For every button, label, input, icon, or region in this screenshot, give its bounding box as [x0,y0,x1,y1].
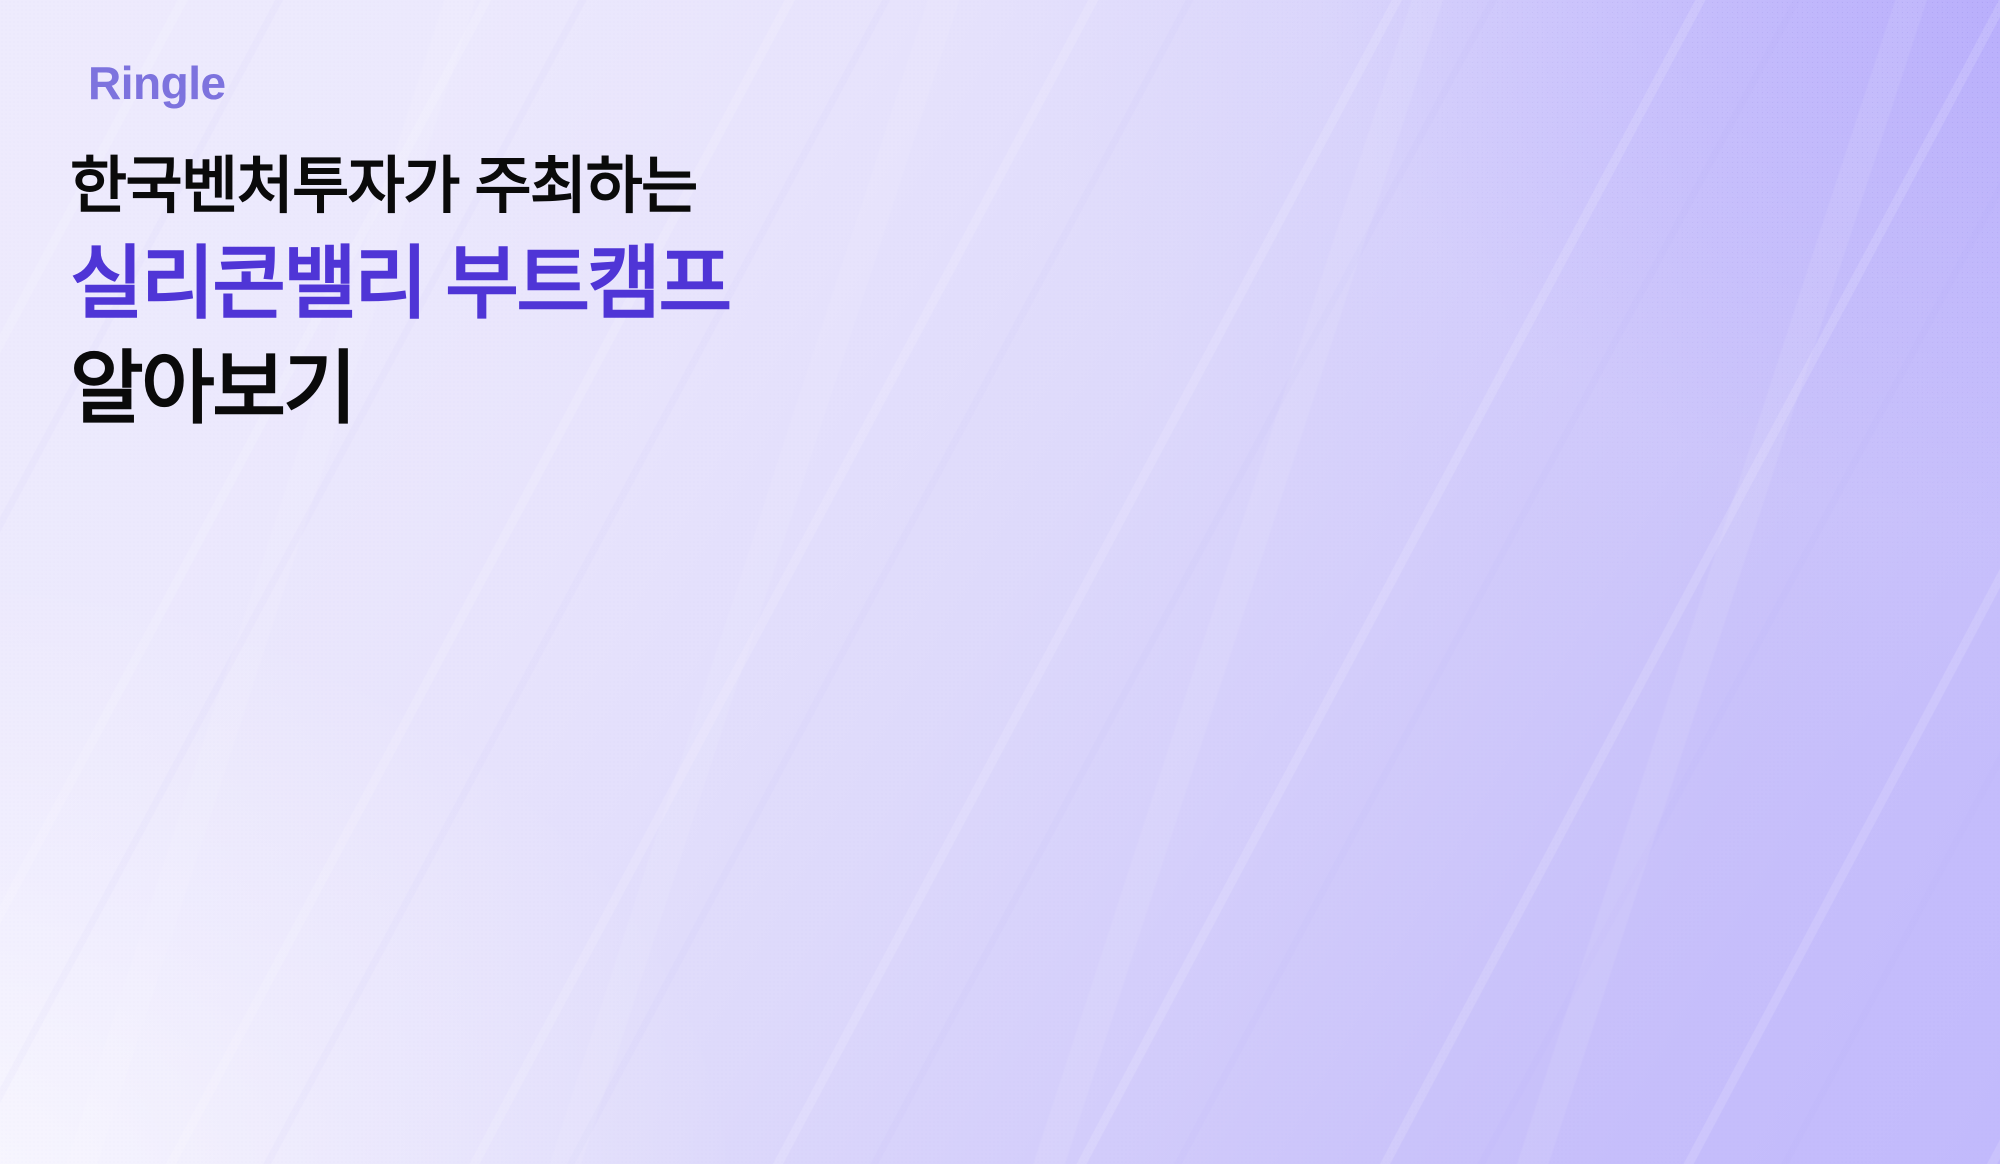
headline-line-1: 한국벤처투자가 주최하는 [70,148,730,227]
headline-line-3: 알아보기 [70,338,730,440]
promo-banner: Ringle 한국벤처투자가 주최하는 실리콘밸리 부트캠프 알아보기 [0,0,2000,1164]
banner-headline: 한국벤처투자가 주최하는 실리콘밸리 부트캠프 알아보기 [70,148,730,440]
headline-line-2: 실리콘밸리 부트캠프 [70,233,730,335]
banner-content: Ringle 한국벤처투자가 주최하는 실리콘밸리 부트캠프 알아보기 [0,0,2000,1164]
ringle-logo[interactable]: Ringle [88,60,226,106]
